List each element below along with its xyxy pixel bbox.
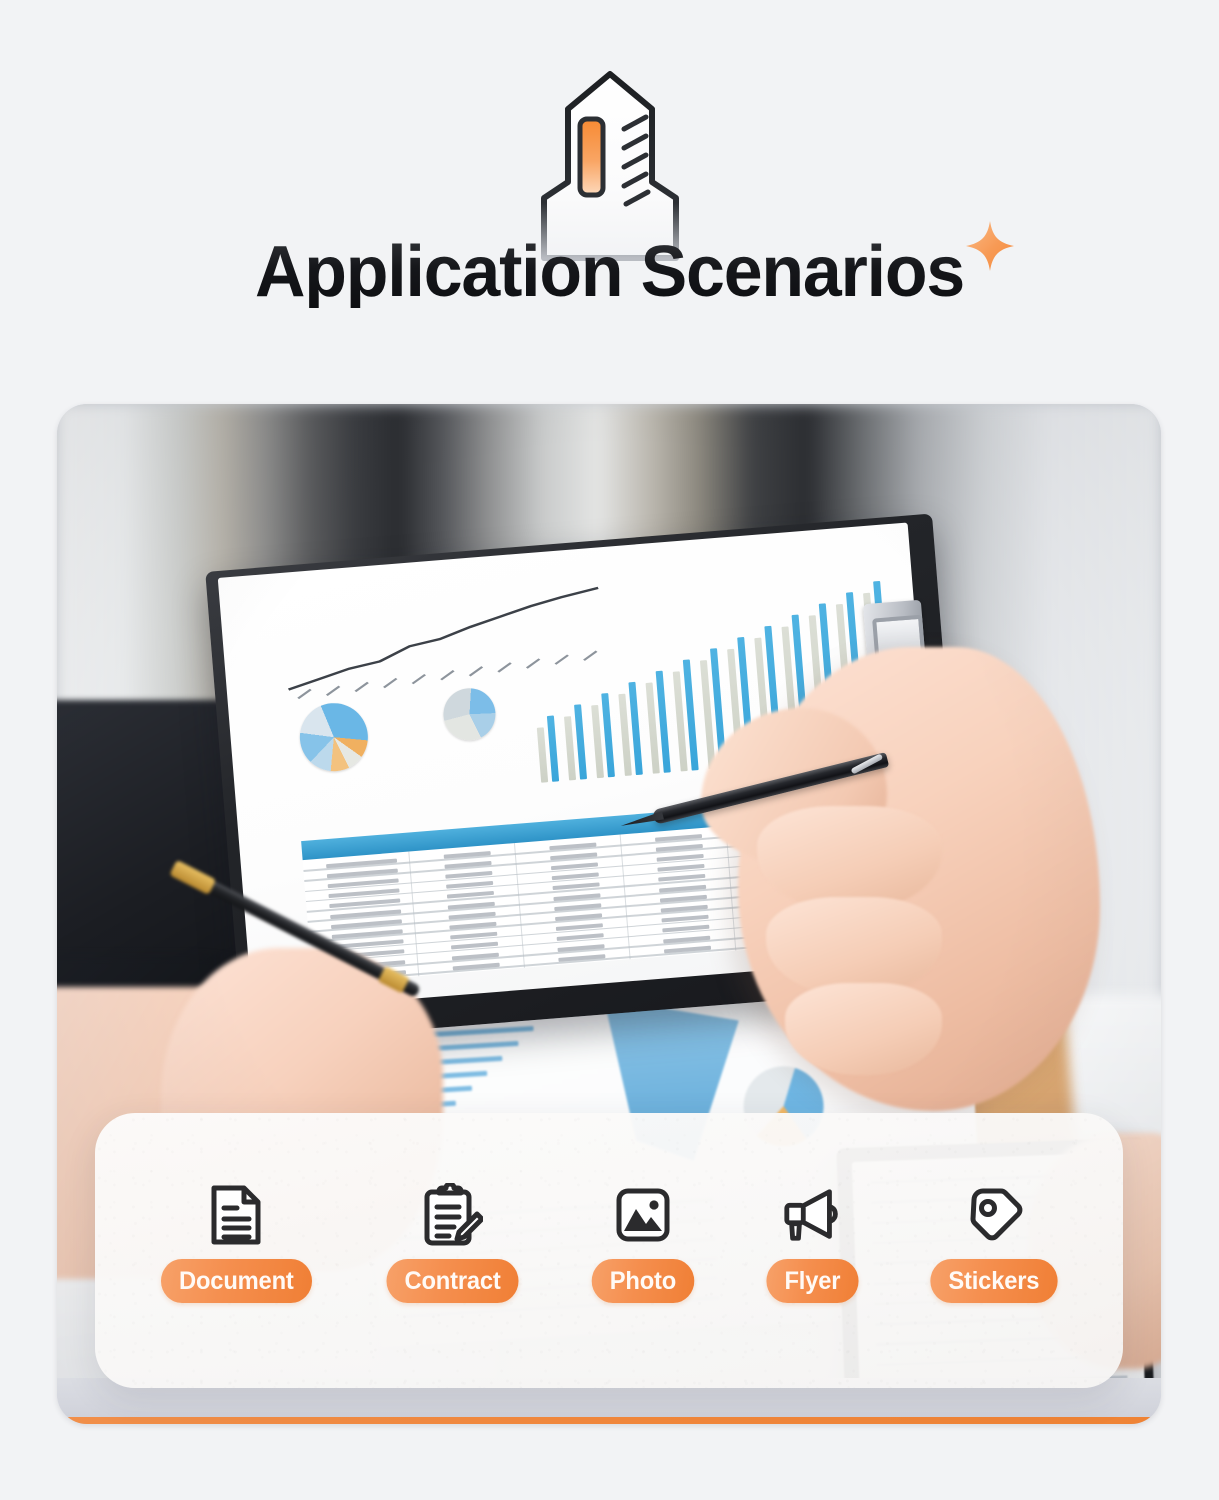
scenario-label-stickers[interactable]: Stickers	[931, 1259, 1058, 1303]
megaphone-icon	[781, 1184, 843, 1246]
application-scenarios-page: Application Scenarios	[0, 0, 1219, 1500]
scenario-item-stickers[interactable]: Stickers	[927, 1184, 1061, 1303]
clipboard-pie-chart-2	[441, 686, 497, 742]
scenario-label-flyer[interactable]: Flyer	[766, 1259, 858, 1303]
scenario-item-contract[interactable]: Contract	[383, 1184, 522, 1303]
sparkle-star-icon	[965, 220, 1015, 272]
scenario-label-document[interactable]: Document	[161, 1259, 312, 1303]
contract-icon	[421, 1184, 483, 1246]
document-icon	[205, 1184, 267, 1246]
scenario-label-photo[interactable]: Photo	[591, 1259, 693, 1303]
page-title: Application Scenarios	[255, 236, 964, 308]
scenario-item-document[interactable]: Document	[157, 1184, 316, 1303]
scenario-badge-card: Document Con	[95, 1113, 1123, 1388]
scenario-label-contract[interactable]: Contract	[386, 1259, 518, 1303]
scenario-item-photo[interactable]: Photo	[589, 1184, 697, 1303]
right-index-finger	[757, 806, 942, 910]
scenario-item-flyer[interactable]: Flyer	[764, 1184, 861, 1303]
page-title-row: Application Scenarios	[0, 236, 1219, 308]
clipboard-pie-chart-1	[297, 701, 370, 774]
tag-icon	[963, 1184, 1025, 1246]
photo-icon	[612, 1184, 674, 1246]
right-hand-with-pen	[664, 562, 1128, 1173]
page-header: Application Scenarios	[0, 0, 1219, 390]
scenario-item-list: Document Con	[95, 1113, 1123, 1388]
right-ring-finger	[785, 983, 943, 1075]
